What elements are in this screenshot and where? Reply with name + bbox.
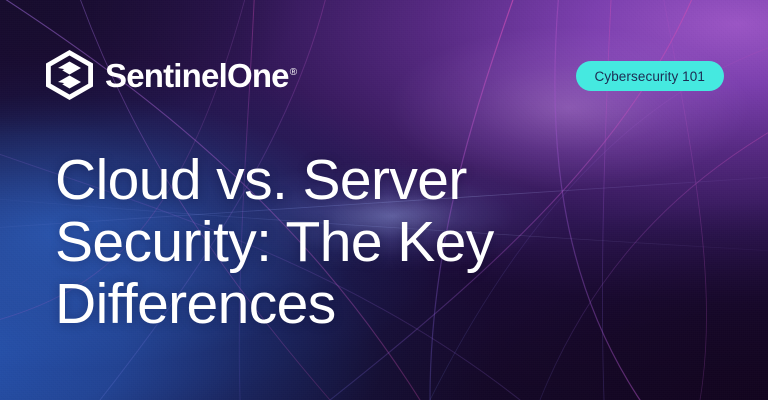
hero-banner: SentinelOne® Cybersecurity 101 Cloud vs.… [0,0,768,400]
page-title-line-3: Differences [55,273,615,335]
page-title-line-1: Cloud vs. Server [55,149,615,211]
brand-name-text: SentinelOne [105,57,289,94]
page-title-line-2: Security: The Key [55,211,615,273]
category-badge-label: Cybersecurity 101 [595,69,706,84]
sentinelone-wordmark: SentinelOne® [105,59,297,92]
banner-content: SentinelOne® Cybersecurity 101 Cloud vs.… [0,0,768,400]
category-badge[interactable]: Cybersecurity 101 [576,61,725,91]
trademark-symbol: ® [290,67,297,78]
sentinelone-hexagon-logo-icon [46,50,93,100]
page-title: Cloud vs. Server Security: The Key Diffe… [55,149,615,335]
sentinelone-brand-lockup[interactable]: SentinelOne® [46,50,297,100]
